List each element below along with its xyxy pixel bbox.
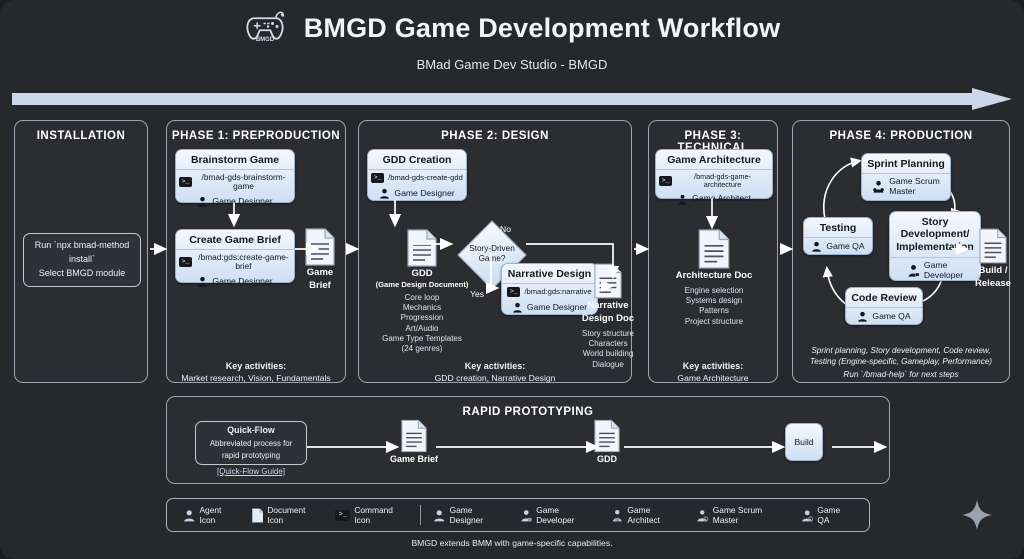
phase3-key-text: Game Architecture (677, 373, 748, 383)
legend-item-agent: Agent Icon (176, 505, 245, 525)
phase2-key-title: Key activities: (465, 361, 526, 371)
page-title: BMGD Game Development Workflow (304, 13, 781, 44)
legend-label: Game QA (817, 505, 853, 525)
agent-label: Game Designer (394, 189, 454, 198)
panel-installation: INSTALLATION Run `npx bmad-method instal… (14, 120, 148, 383)
quick-flow-box[interactable]: Quick-Flow Abbreviated process for rapid… (195, 421, 307, 465)
install-line-1: Run `npx bmad-method install` (30, 239, 134, 267)
legend-label: Game Designer (450, 505, 506, 525)
task-testing[interactable]: Testing Game QA (803, 217, 873, 255)
task-sprint-planning-agent: Game Scrum Master (862, 174, 950, 199)
task-game-architecture-title: Game Architecture (656, 150, 772, 170)
page-subtitle: BMad Game Dev Studio - BMGD (0, 57, 1024, 72)
task-create-game-brief-title: Create Game Brief (176, 230, 294, 250)
agent-icon (512, 302, 523, 313)
agent-label: Game Designer (212, 197, 272, 206)
task-brainstorm-game-agent: Game Designer (176, 194, 294, 210)
rapid-build-label: Build (794, 437, 813, 447)
task-gdd-creation-agent: Game Designer (368, 185, 466, 201)
phase4-footer: Sprint planning, Story development, Code… (793, 346, 1009, 381)
task-story-development-agent: Game Developer (890, 258, 980, 283)
legend-label: Game Scrum Master (713, 505, 787, 525)
task-testing-agent: Game QA (804, 238, 872, 254)
task-code-review-agent: Game QA (846, 308, 922, 324)
rapid-build-box[interactable]: Build (785, 423, 823, 461)
decision-label-1: Story-Driven (456, 244, 528, 254)
task-create-game-brief[interactable]: Create Game Brief >_ /bmad:gds:create-ga… (175, 229, 295, 283)
game-designer-icon (433, 509, 445, 522)
command-icon: >_ (371, 173, 384, 183)
agent-label: Game Architect (692, 194, 751, 203)
document-icon (698, 229, 730, 269)
story-title-line1: Story (922, 216, 949, 228)
task-brainstorm-game-title: Brainstorm Game (176, 150, 294, 170)
agent-icon (197, 276, 208, 287)
phase2-key-text: GDD creation, Narrative Design (435, 373, 556, 383)
doc-narrative-label-2: Design Doc (577, 314, 639, 325)
phase1-key-text: Market research, Vision, Fundamentals (181, 373, 330, 383)
panel-rapid-prototyping: RAPID PROTOTYPING Quick-Flow Abbreviated… (166, 396, 890, 484)
agent-label-line2: Master (889, 186, 915, 196)
doc-game-brief-label-2: Brief (297, 281, 343, 292)
task-game-architecture-agent: Game Architect (656, 191, 772, 207)
doc-build-label-2: Release (968, 279, 1018, 290)
phase4-footer-line3: Run `/bmad-help` for next steps (843, 370, 958, 381)
legend-role-game-scrum-master: Game Scrum Master (689, 505, 794, 525)
legend-label: Document Icon (267, 505, 321, 525)
agent-label-line2: Developer (924, 270, 963, 280)
task-brainstorm-game-command[interactable]: >_ /bmad-gds-brainstorm-game (176, 170, 294, 193)
phase3-key-title: Key activities: (683, 361, 744, 371)
legend-divider (420, 505, 421, 525)
task-code-review-title: Code Review (846, 288, 922, 308)
command-icon: >_ (507, 287, 520, 297)
installation-title: INSTALLATION (15, 130, 147, 142)
command-text: /bmad-gds-create-gdd (388, 174, 463, 182)
quick-flow-guide-link[interactable]: [Quick-Flow Guide] (195, 467, 307, 476)
legend-role-game-developer: Game Developer (513, 505, 604, 525)
document-icon (407, 229, 437, 267)
doc-build-release: Build / Release (968, 228, 1018, 290)
command-icon: >_ (335, 510, 350, 521)
command-icon: >_ (179, 177, 192, 187)
task-gdd-creation[interactable]: GDD Creation >_ /bmad-gds-create-gdd Gam… (367, 149, 467, 201)
task-gdd-creation-title: GDD Creation (368, 150, 466, 170)
footnote: BMGD extends BMM with game-specific capa… (0, 538, 1024, 548)
task-code-review[interactable]: Code Review Game QA (845, 287, 923, 325)
document-icon (594, 263, 622, 299)
doc-game-brief-label-1: Game (297, 268, 343, 279)
legend-role-game-qa: Game QA (794, 505, 860, 525)
phase3-key-activities: Key activities: Game Architecture (649, 361, 777, 384)
doc-architecture-label: Architecture Doc (665, 271, 763, 282)
task-sprint-planning-title: Sprint Planning (862, 154, 950, 174)
game-developer-icon (907, 264, 920, 277)
doc-narrative-label-1: Narrative (577, 301, 639, 312)
agent-icon (197, 196, 208, 207)
command-icon: >_ (179, 257, 192, 267)
game-scrum-master-icon (696, 509, 708, 522)
story-title-line3: Implementation (896, 241, 974, 253)
phase1-key-title: Key activities: (226, 361, 287, 371)
rapid-doc-gdd-label: GDD (577, 454, 637, 464)
agent-label: Game QA (826, 242, 864, 251)
rapid-doc-game-brief-label: Game Brief (379, 454, 449, 464)
task-game-architecture[interactable]: Game Architecture >_ /bmad-gds-game-arch… (655, 149, 773, 199)
game-architect-icon (677, 194, 688, 205)
doc-game-brief: Game Brief (297, 228, 343, 292)
phase4-footer-line1: Sprint planning, Story development, Code… (811, 346, 990, 355)
quick-flow-line1: Abbreviated process for (210, 438, 292, 450)
game-qa-icon (801, 509, 813, 522)
document-icon (594, 419, 620, 453)
legend-label: Game Architect (627, 505, 682, 525)
phase1-key-activities: Key activities: Market research, Vision,… (167, 361, 345, 384)
panel-phase-3: PHASE 3: TECHNICAL Game Architecture >_ … (648, 120, 778, 383)
task-create-game-brief-agent: Game Designer (176, 274, 294, 290)
agent-label: Game QA (872, 312, 910, 321)
installation-command-box: Run `npx bmad-method install` Select BMG… (23, 233, 141, 287)
document-icon (401, 419, 427, 453)
legend: Agent Icon Document Icon >_ Command Icon… (166, 498, 870, 532)
story-title-line2: Development/ (901, 228, 970, 240)
rapid-doc-gdd: GDD (577, 419, 637, 464)
legend-label: Command Icon (354, 505, 408, 525)
branch-label-yes: Yes (470, 289, 484, 299)
game-architect-icon (611, 509, 623, 522)
agent-icon (379, 188, 390, 199)
command-text: /bmad-gds-brainstorm-game (196, 173, 291, 191)
legend-role-game-designer: Game Designer (426, 505, 513, 525)
rapid-doc-game-brief: Game Brief (379, 419, 449, 464)
agent-icon (183, 509, 195, 522)
legend-role-game-architect: Game Architect (604, 505, 689, 525)
task-gdd-creation-command[interactable]: >_ /bmad-gds-create-gdd (368, 170, 466, 185)
quick-flow-title: Quick-Flow (227, 424, 274, 438)
task-brainstorm-game[interactable]: Brainstorm Game >_ /bmad-gds-brainstorm-… (175, 149, 295, 203)
phase2-title: PHASE 2: DESIGN (359, 130, 631, 142)
doc-narrative-design: Narrative Design Doc Story structure Cha… (577, 263, 639, 370)
command-text: /bmad:gds:create-game-brief (196, 253, 291, 271)
doc-architecture: Architecture Doc Engine selection System… (665, 229, 763, 327)
doc-build-label-1: Build / (968, 266, 1018, 277)
agent-label-line1: Game Scrum (889, 176, 940, 186)
agent-label-line1: Game (924, 260, 947, 270)
legend-item-document: Document Icon (245, 505, 329, 525)
quick-flow-line2: rapid prototyping (222, 450, 280, 462)
document-icon (252, 508, 264, 523)
legend-label: Game Developer (536, 505, 597, 525)
game-developer-icon (520, 509, 532, 522)
panel-phase-2: PHASE 2: DESIGN GDD Creation >_ /bmad-gd… (358, 120, 632, 383)
task-game-architecture-command[interactable]: >_ /bmad-gds-game-architecture (656, 170, 772, 191)
workflow-direction-arrow (12, 88, 1012, 110)
phase2-key-activities: Key activities: GDD creation, Narrative … (359, 361, 631, 384)
doc-architecture-details: Engine selection Systems design Patterns… (665, 286, 763, 327)
rapid-title: RAPID PROTOTYPING (167, 406, 889, 418)
gamepad-icon: BMGD (244, 6, 292, 50)
document-icon (305, 228, 335, 266)
task-create-game-brief-command[interactable]: >_ /bmad:gds:create-game-brief (176, 250, 294, 273)
document-icon (979, 228, 1007, 264)
logo-label: BMGD (256, 37, 275, 43)
command-icon: >_ (659, 176, 672, 186)
branch-label-no: No (500, 224, 511, 234)
doc-gdd-details: Core loop Mechanics Progression Art/Audi… (373, 293, 471, 354)
game-qa-icon (811, 241, 822, 252)
sparkle-icon (960, 498, 994, 532)
diagram-canvas: BMGD BMGD Game Development Workflow BMad… (0, 0, 1024, 559)
legend-label: Agent Icon (199, 505, 237, 525)
agent-label: Game Designer (212, 277, 272, 286)
task-testing-title: Testing (804, 218, 872, 238)
task-sprint-planning[interactable]: Sprint Planning Game Scrum Master (861, 153, 951, 201)
install-line-2: Select BMGD module (39, 267, 126, 281)
task-story-development-title: Story Development/ Implementation (890, 212, 980, 258)
phase4-footer-line2: Testing (Engine-specific, Gameplay, Perf… (810, 357, 992, 366)
game-qa-icon (857, 311, 868, 322)
header: BMGD BMGD Game Development Workflow BMad… (0, 6, 1024, 72)
game-scrum-master-icon (872, 180, 885, 193)
command-text: /bmad-gds-game-architecture (676, 173, 769, 189)
legend-item-command: >_ Command Icon (328, 505, 415, 525)
phase1-title: PHASE 1: PREPRODUCTION (167, 130, 345, 142)
